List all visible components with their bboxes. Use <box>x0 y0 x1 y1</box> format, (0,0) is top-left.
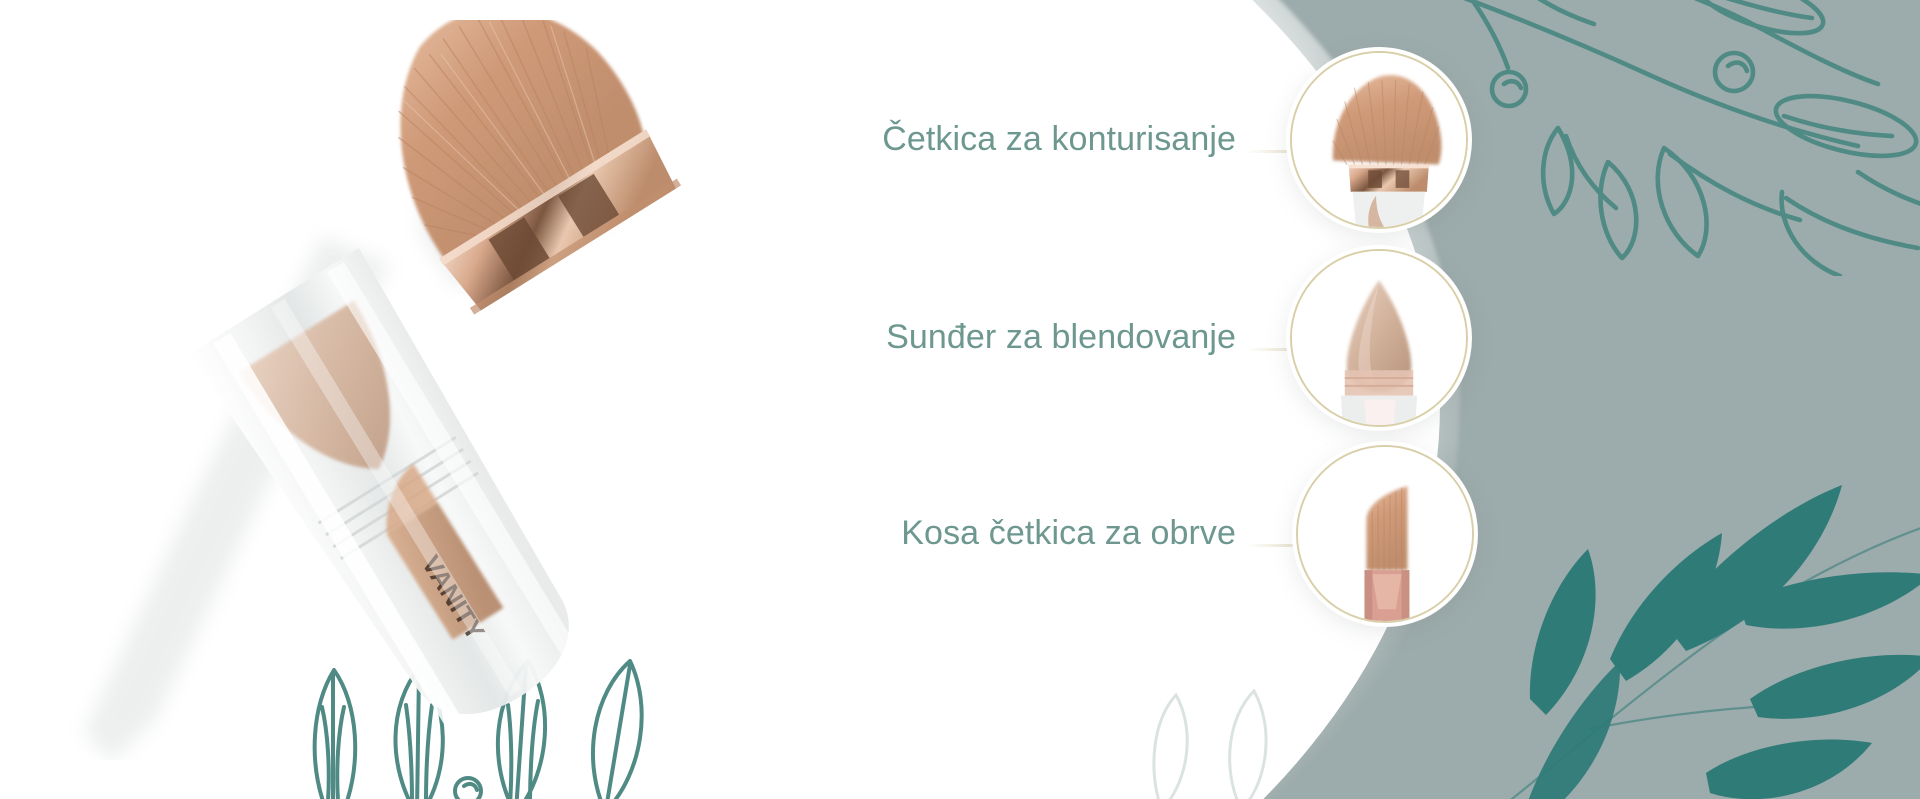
hero-brush-illustration: VANITY <box>60 20 700 760</box>
blending-sponge-thumbnail[interactable] <box>1290 249 1468 427</box>
product-label-brow-brush: Kosa četkica za obrve <box>760 516 1240 552</box>
product-feature-banner: VANITY Četkica za konturisanje <box>0 0 1920 799</box>
thumbnail-wrap-brow-brush[interactable] <box>1296 445 1474 623</box>
product-label-blending-sponge: Sunđer za blendovanje <box>760 320 1240 356</box>
product-item-brow-brush[interactable]: Kosa četkica za obrve <box>760 436 1760 632</box>
angled-brow-brush-thumbnail[interactable] <box>1296 445 1474 623</box>
product-list: Četkica za konturisanje <box>760 0 1920 799</box>
thumbnail-wrap-contour-brush[interactable] <box>1290 51 1468 229</box>
product-label-contour-brush: Četkica za konturisanje <box>760 122 1240 158</box>
contour-brush-thumbnail[interactable] <box>1290 51 1468 229</box>
product-item-contour-brush[interactable]: Četkica za konturisanje <box>760 42 1760 238</box>
product-item-blending-sponge[interactable]: Sunđer za blendovanje <box>760 240 1760 436</box>
thumbnail-wrap-blending-sponge[interactable] <box>1290 249 1468 427</box>
